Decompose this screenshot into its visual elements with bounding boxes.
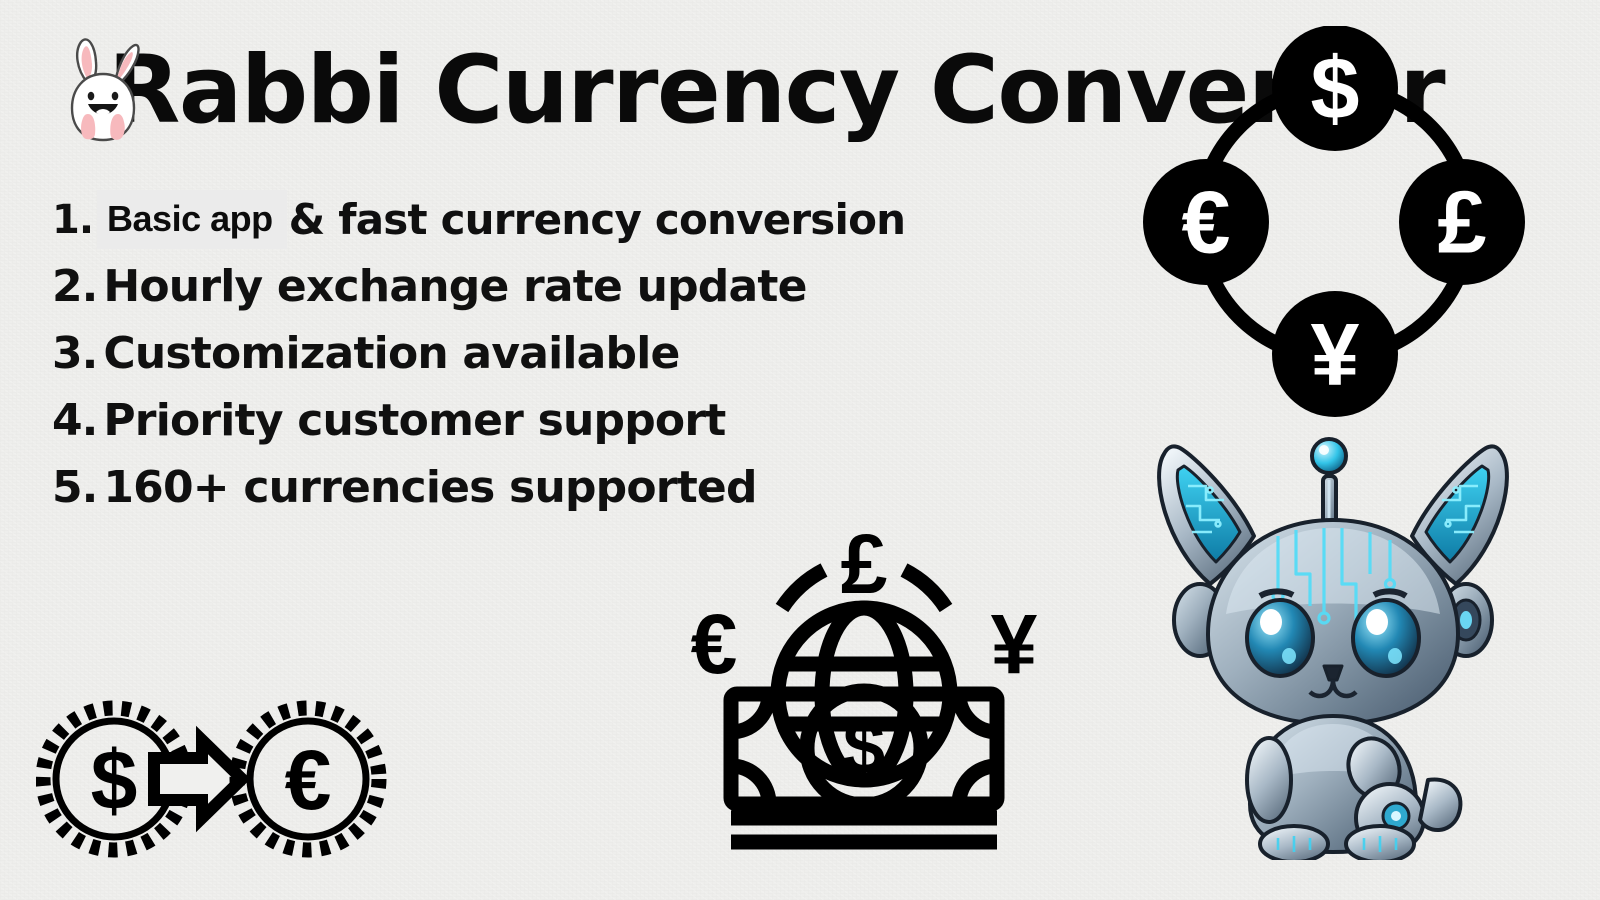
exchange-to-symbol: € [285, 733, 332, 827]
feature-list: 1. Basic app & fast currency conversion … [52, 186, 952, 521]
title-block: Rabbi Currency Convertor [52, 36, 1132, 156]
list-item: 4. Priority customer support [52, 387, 952, 454]
list-item-number: 2. [52, 261, 97, 312]
currency-exchange-ring-diagram: $ £ ¥ € [1140, 26, 1530, 418]
ring-node-usd: $ [1272, 26, 1398, 151]
euro-coin: € [237, 708, 379, 850]
banknote-dollar-symbol: $ [843, 706, 885, 791]
list-item-label: & fast currency conversion [289, 195, 906, 244]
ring-symbol-usd: $ [1311, 39, 1360, 138]
mascot-body [1247, 716, 1460, 860]
list-item-number: 3. [52, 328, 97, 379]
list-item-label: 160+ currencies supported [103, 462, 756, 513]
poster-canvas: Rabbi Currency Convertor 1. Basic app & … [0, 0, 1600, 900]
ring-node-jpy: ¥ [1272, 291, 1398, 417]
ring-symbol-gbp: £ [1438, 173, 1487, 272]
list-item-label: Priority customer support [103, 395, 725, 446]
list-item: 2. Hourly exchange rate update [52, 253, 952, 320]
list-item: 1. Basic app & fast currency conversion [52, 186, 952, 253]
ring-symbol-eur: € [1182, 173, 1231, 272]
list-item-number: 4. [52, 395, 97, 446]
ring-symbol-jpy: ¥ [1311, 305, 1360, 404]
banknote-euro-symbol: € [691, 597, 738, 691]
ring-node-gbp: £ [1399, 159, 1525, 285]
list-item-label: Customization available [103, 328, 679, 379]
robot-rabbit-mascot [1128, 424, 1538, 860]
banknote-pound-symbol: £ [841, 517, 888, 611]
banknote-yen-symbol: ¥ [991, 597, 1038, 691]
bunny-sticker-icon [60, 36, 146, 146]
list-item-label: Hourly exchange rate update [103, 261, 806, 312]
list-item: 3. Customization available [52, 320, 952, 387]
exchange-from-symbol: $ [91, 733, 138, 827]
list-item-number: 1. [52, 197, 93, 243]
list-item-edited-text: Basic app [97, 190, 287, 249]
global-money-icon: $ £ € ¥ [678, 492, 1050, 860]
ring-node-eur: € [1143, 159, 1269, 285]
dollar-to-euro-exchange-icon: $ € [36, 700, 388, 858]
mascot-head [1208, 520, 1458, 724]
list-item-number: 5. [52, 462, 97, 513]
